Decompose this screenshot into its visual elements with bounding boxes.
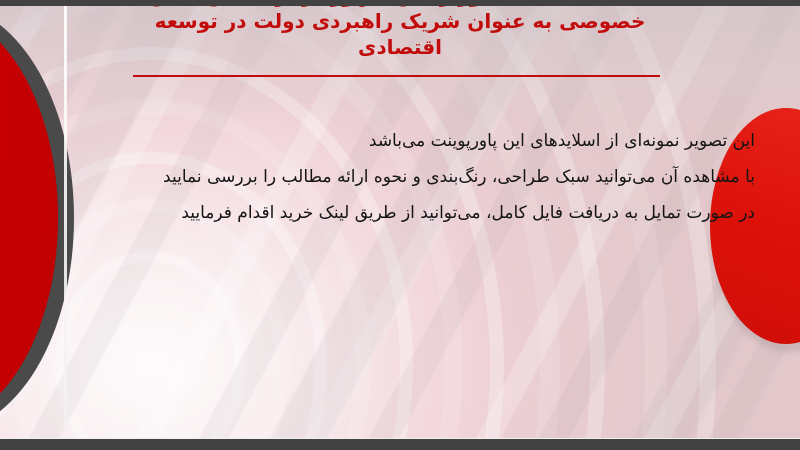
- body-line-1: این تصویر نمونه‌ای از اسلایدهای این پاور…: [155, 123, 755, 159]
- slide-title: تمایل دیدگاه مشاور رئیس‌جمهور درباره نقش…: [120, 0, 680, 60]
- slide-canvas: تمایل دیدگاه مشاور رئیس‌جمهور درباره نقش…: [0, 0, 800, 450]
- title-underline-rule: [133, 75, 660, 77]
- slide-body-text: این تصویر نمونه‌ای از اسلایدهای این پاور…: [155, 123, 755, 231]
- capture-edge-bar-top: [0, 0, 800, 6]
- slide-title-line-3: اقتصادی: [120, 34, 680, 60]
- capture-edge-bar-bottom: [0, 439, 800, 450]
- left-page-edge-highlight: [64, 6, 67, 432]
- body-line-2: با مشاهده آن می‌توانید سبک طراحی، رنگ‌بن…: [155, 159, 755, 195]
- body-line-3: در صورت تمایل به دریافت فایل کامل، می‌تو…: [155, 195, 755, 231]
- capture-edge-hairline-bottom: [0, 438, 800, 439]
- slide-title-line-2: خصوصی به عنوان شریک راهبردی دولت در توسع…: [120, 8, 680, 34]
